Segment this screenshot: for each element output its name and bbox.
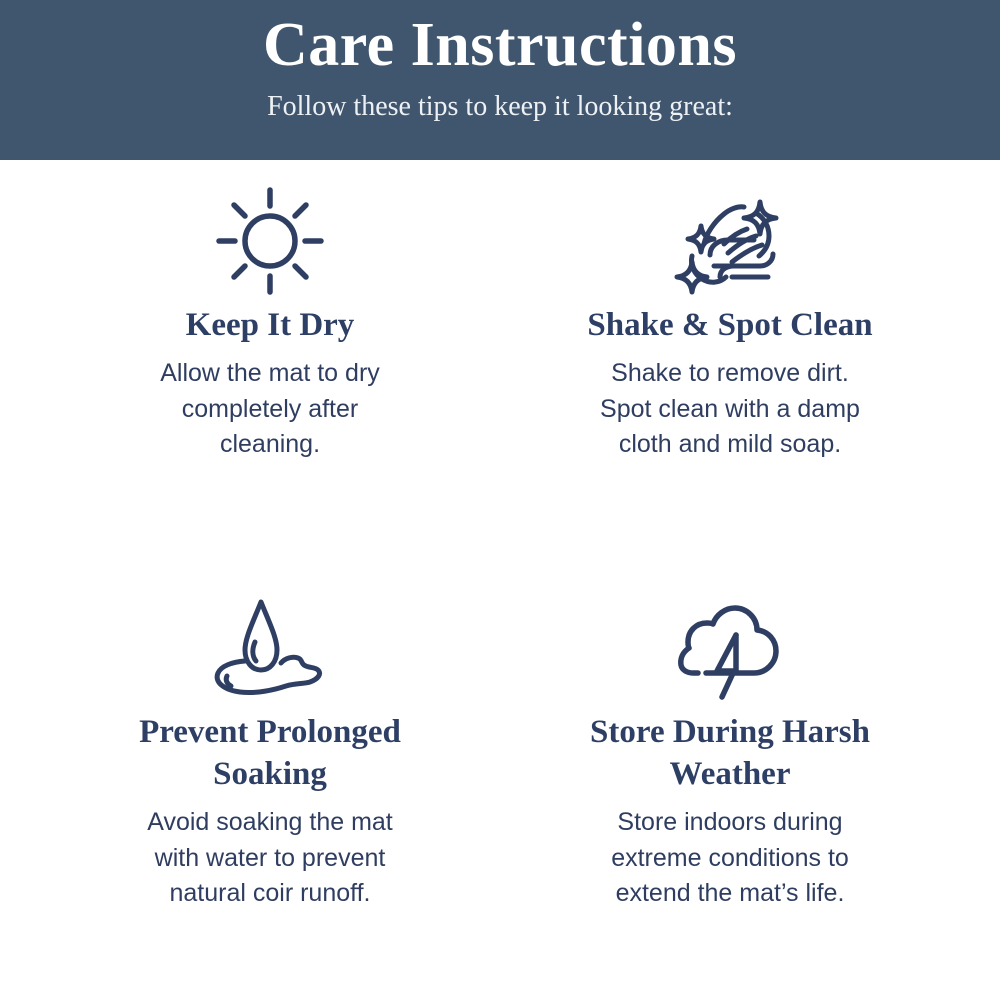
tip-body: Avoid soaking the mat with water to prev… — [147, 805, 393, 912]
tip-card-store-during-harsh-weather: Store During Harsh Weather Store indoors… — [500, 579, 960, 980]
tip-card-prevent-prolonged-soaking: Prevent Prolonged Soaking Avoid soaking … — [40, 579, 500, 980]
tip-card-shake-and-spot-clean: Shake & Spot Clean Shake to remove dirt.… — [500, 178, 960, 579]
tip-card-keep-it-dry: Keep It Dry Allow the mat to dry complet… — [40, 178, 500, 579]
care-instructions-page: Care Instructions Follow these tips to k… — [0, 0, 1000, 1000]
tip-body: Shake to remove dirt. Spot clean with a … — [600, 356, 860, 463]
tip-body: Allow the mat to dry completely after cl… — [160, 356, 380, 463]
water-droplet-puddle-icon — [200, 589, 340, 707]
tip-title: Keep It Dry — [186, 304, 355, 356]
tip-title: Store During Harsh Weather — [540, 711, 920, 805]
tip-body: Store indoors during extreme conditions … — [611, 805, 849, 912]
page-subtitle: Follow these tips to keep it looking gre… — [267, 78, 733, 124]
page-title: Care Instructions — [263, 14, 737, 78]
sun-icon — [211, 182, 329, 300]
washing-hands-sparkle-icon — [668, 182, 792, 300]
header-banner: Care Instructions Follow these tips to k… — [0, 0, 1000, 160]
tip-title: Prevent Prolonged Soaking — [80, 711, 460, 805]
tip-title: Shake & Spot Clean — [587, 304, 872, 356]
tips-grid: Keep It Dry Allow the mat to dry complet… — [0, 160, 1000, 1000]
storm-cloud-lightning-icon — [668, 589, 792, 707]
